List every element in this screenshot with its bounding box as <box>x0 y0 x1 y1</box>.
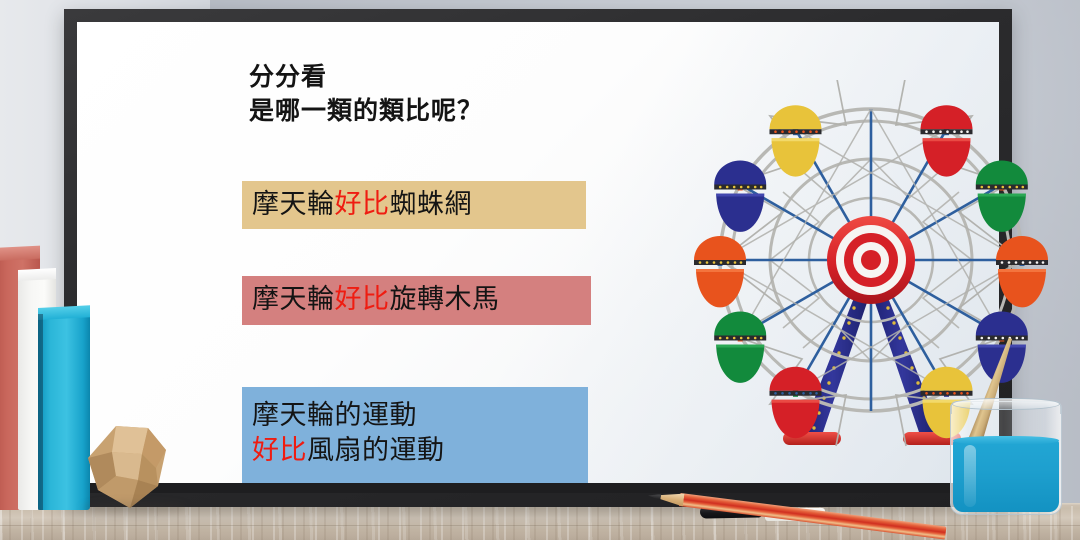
polyhedron-svg <box>86 424 178 510</box>
statement-1-emphasis: 好比 <box>335 187 390 222</box>
statement-box-3: 摩天輪的運動 好比風扇的運動 <box>242 387 588 483</box>
headline-line-1: 分分看 <box>249 60 679 94</box>
wheel-hub <box>827 216 915 304</box>
slide-scene: 分分看 是哪一類的類比呢？ 摩天輪好比蜘蛛網 摩天輪好比旋轉木馬 摩天輪的運動 … <box>0 0 1080 540</box>
gondola-1 <box>770 105 822 176</box>
statement-3-line-1: 摩天輪的運動 <box>252 398 417 433</box>
statement-2-suffix: 旋轉木馬 <box>390 282 500 317</box>
book-cyan <box>38 308 90 510</box>
statement-2-prefix: 摩天輪 <box>252 282 335 317</box>
book-cyan-spine-shadow <box>38 314 43 510</box>
statement-2-emphasis: 好比 <box>335 282 390 317</box>
statement-box-1: 摩天輪好比蜘蛛網 <box>242 181 586 229</box>
statement-3-line-2-suffix: 風扇的運動 <box>307 435 445 465</box>
gondola-3 <box>976 161 1028 232</box>
book-red-top <box>0 246 40 261</box>
polyhedron-shadow <box>82 502 186 514</box>
whiteboard-frame: 分分看 是哪一類的類比呢？ 摩天輪好比蜘蛛網 摩天輪好比旋轉木馬 摩天輪的運動 … <box>64 9 1012 507</box>
jar-liquid-surface <box>953 436 1059 445</box>
gondola-10 <box>714 161 766 232</box>
book-cyan-top <box>38 305 90 320</box>
statement-1-suffix: 蜘蛛網 <box>390 187 473 222</box>
pencil-graphite-tip <box>648 493 662 501</box>
jar-rim <box>952 398 1060 410</box>
book-white-top <box>18 268 56 281</box>
whiteboard-tray-shadow <box>77 483 999 493</box>
statement-3-line-2: 好比風扇的運動 <box>252 433 445 468</box>
headline-line-2: 是哪一類的類比呢？ <box>249 94 679 128</box>
wooden-polyhedron <box>86 424 178 510</box>
statement-3-emphasis: 好比 <box>252 435 307 465</box>
whiteboard-surface: 分分看 是哪一類的類比呢？ 摩天輪好比蜘蛛網 摩天輪好比旋轉木馬 摩天輪的運動 … <box>77 22 999 493</box>
page-title: 分分看 是哪一類的類比呢？ <box>249 60 679 128</box>
jar-highlight <box>964 445 976 507</box>
gondola-2 <box>921 105 973 176</box>
statement-1-prefix: 摩天輪 <box>252 187 335 222</box>
gondola-8 <box>714 312 766 383</box>
statement-box-2: 摩天輪好比旋轉木馬 <box>242 276 591 325</box>
glass-jar <box>950 393 1062 515</box>
